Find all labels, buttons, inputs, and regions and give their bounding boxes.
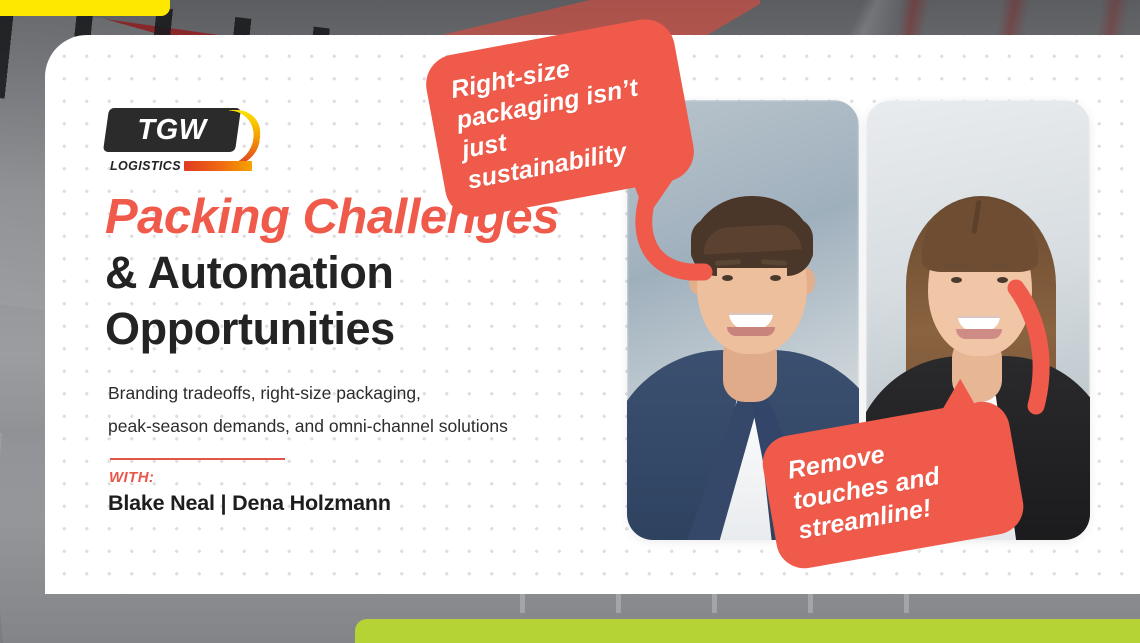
subtitle-line-2: peak-season demands, and omni-channel so… (108, 410, 508, 443)
eye-right (997, 277, 1008, 283)
subtitle-line-1: Branding tradeoffs, right-size packaging… (108, 377, 508, 410)
eye-left (722, 275, 733, 281)
logo-gradient-bar (184, 161, 252, 171)
tgw-logistics-logo: TGW LOGISTICS (106, 108, 256, 173)
with-label: WITH: (109, 470, 154, 485)
bottom-accent-bar (355, 619, 1140, 643)
title-line-black-1: & Automation (105, 247, 559, 299)
page-title: Packing Challenges & Automation Opportun… (105, 192, 559, 355)
logo-subtitle: LOGISTICS (110, 159, 181, 173)
divider-rule (110, 458, 285, 460)
eye-right (770, 275, 781, 281)
eye-left (951, 277, 962, 283)
top-accent-bar (0, 0, 170, 16)
promo-graphic: TGW LOGISTICS Packing Challenges & Autom… (0, 0, 1140, 643)
lower-lip (727, 327, 775, 336)
logo-subtitle-row: LOGISTICS (106, 159, 258, 173)
title-line-black-2: Opportunities (105, 303, 559, 355)
speaker-names: Blake Neal | Dena Holzmann (108, 493, 391, 515)
subtitle: Branding tradeoffs, right-size packaging… (108, 377, 508, 444)
logo-badge: TGW (103, 108, 241, 152)
logo-wordmark: TGW (106, 108, 238, 152)
lower-lip (956, 329, 1002, 339)
